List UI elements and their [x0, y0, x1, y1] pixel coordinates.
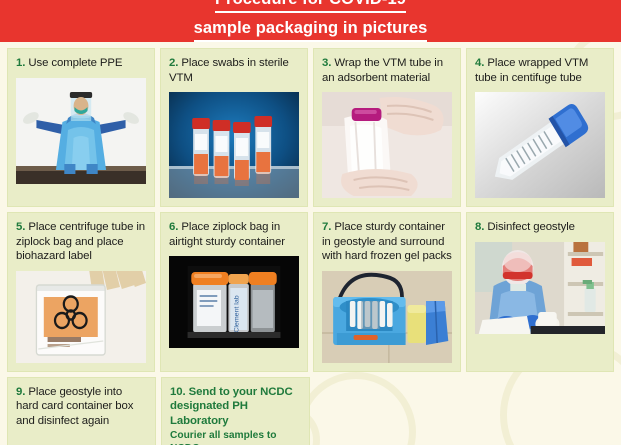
step-number-1: 1.: [16, 57, 25, 69]
step-card-placeholder: [467, 377, 614, 445]
geostyle-gelpacks-photo: [322, 271, 452, 363]
step-caption-8: 8. Disinfect geostyle: [475, 220, 605, 235]
step-text-5: Place centrifuge tube in ziplock bag and…: [16, 221, 145, 262]
step-text-6: Place ziplock bag in airtight sturdy con…: [169, 221, 285, 248]
step-card-6[interactable]: 6. Place ziplock bag in airtight sturdy …: [160, 212, 308, 372]
steps-row-2: 5. Place centrifuge tube in ziplock bag …: [7, 212, 614, 372]
wrapping-tube-photo: [322, 92, 452, 198]
step-text-3: Wrap the VTM tube in an adsorbent materi…: [322, 57, 443, 84]
step-caption-2: 2. Place swabs in sterile VTM: [169, 56, 299, 85]
disinfect-geostyle-photo: [475, 242, 605, 334]
step-caption-7: 7. Place sturdy container in geostyle an…: [322, 220, 452, 264]
step-number-10: 10.: [170, 386, 186, 398]
step-number-6: 6.: [169, 221, 178, 233]
step-number-5: 5.: [16, 221, 25, 233]
step-text-7: Place sturdy container in geostyle and s…: [322, 221, 452, 262]
step-caption-5: 5. Place centrifuge tube in ziplock bag …: [16, 220, 146, 264]
page-title-line2: sample packaging in pictures: [194, 18, 428, 42]
step-number-3: 3.: [322, 57, 331, 69]
step-card-4[interactable]: 4. Place wrapped VTM tube in centifuge t…: [466, 48, 614, 207]
step-caption-4: 4. Place wrapped VTM tube in centifuge t…: [475, 56, 605, 85]
step-card-2[interactable]: 2. Place swabs in sterile VTM: [160, 48, 308, 207]
step-card-9[interactable]: 9. Place geostyle into hard card contain…: [7, 377, 156, 445]
steps-row-1: 1. Use complete PPE: [7, 48, 614, 207]
header-banner: Procedure for COVID-19 sample packaging …: [0, 0, 621, 42]
centrifuge-tube-photo: [475, 92, 605, 198]
step-text-9: Place geostyle into hard card container …: [16, 386, 133, 427]
step-card-8[interactable]: 8. Disinfect geostyle: [466, 212, 614, 372]
sturdy-container-photo: Clement lab: [169, 256, 299, 348]
step-card-placeholder: [315, 377, 462, 445]
step-text-1: Use complete PPE: [28, 57, 122, 69]
steps-row-3: 9. Place geostyle into hard card contain…: [7, 377, 614, 445]
step-card-10[interactable]: 10. Send to your NCDC designated PH Labo…: [161, 377, 310, 445]
step-number-9: 9.: [16, 386, 25, 398]
step-number-7: 7.: [322, 221, 331, 233]
header-title-line2-wrap: sample packaging in pictures: [0, 18, 621, 42]
svg-text:Clement lab: Clement lab: [234, 295, 241, 333]
step-text-10: Send to your NCDC designated PH Laborato…: [170, 386, 293, 427]
step-card-3[interactable]: 3. Wrap the VTM tube in an adsorbent mat…: [313, 48, 461, 207]
steps-grid: 1. Use complete PPE: [0, 42, 621, 445]
step-caption-9: 9. Place geostyle into hard card contain…: [16, 385, 147, 429]
step-card-1[interactable]: 1. Use complete PPE: [7, 48, 155, 207]
step-text-2: Place swabs in sterile VTM: [169, 57, 289, 84]
step-caption-1: 1. Use complete PPE: [16, 56, 146, 71]
step-caption-3: 3. Wrap the VTM tube in an adsorbent mat…: [322, 56, 452, 85]
step-number-2: 2.: [169, 57, 178, 69]
header-title-block: Procedure for COVID-19 sample packaging …: [0, 0, 621, 42]
page-title-line1: Procedure for COVID-19: [215, 0, 406, 13]
header-title-line1-wrap: Procedure for COVID-19: [0, 0, 621, 13]
step-number-4: 4.: [475, 57, 484, 69]
ppe-worker-photo: [16, 78, 146, 184]
step-subtext-10: Courier all samples to NCDC: [170, 430, 301, 445]
step-text-8: Disinfect geostyle: [487, 221, 574, 233]
step-card-5[interactable]: 5. Place centrifuge tube in ziplock bag …: [7, 212, 155, 372]
step-text-4: Place wrapped VTM tube in centifuge tube: [475, 57, 588, 84]
step-card-7[interactable]: 7. Place sturdy container in geostyle an…: [313, 212, 461, 372]
biohazard-ziplock-photo: [16, 271, 146, 363]
step-caption-10: 10. Send to your NCDC designated PH Labo…: [170, 385, 301, 429]
step-number-8: 8.: [475, 221, 484, 233]
step-caption-6: 6. Place ziplock bag in airtight sturdy …: [169, 220, 299, 249]
vtm-vials-photo: [169, 92, 299, 198]
